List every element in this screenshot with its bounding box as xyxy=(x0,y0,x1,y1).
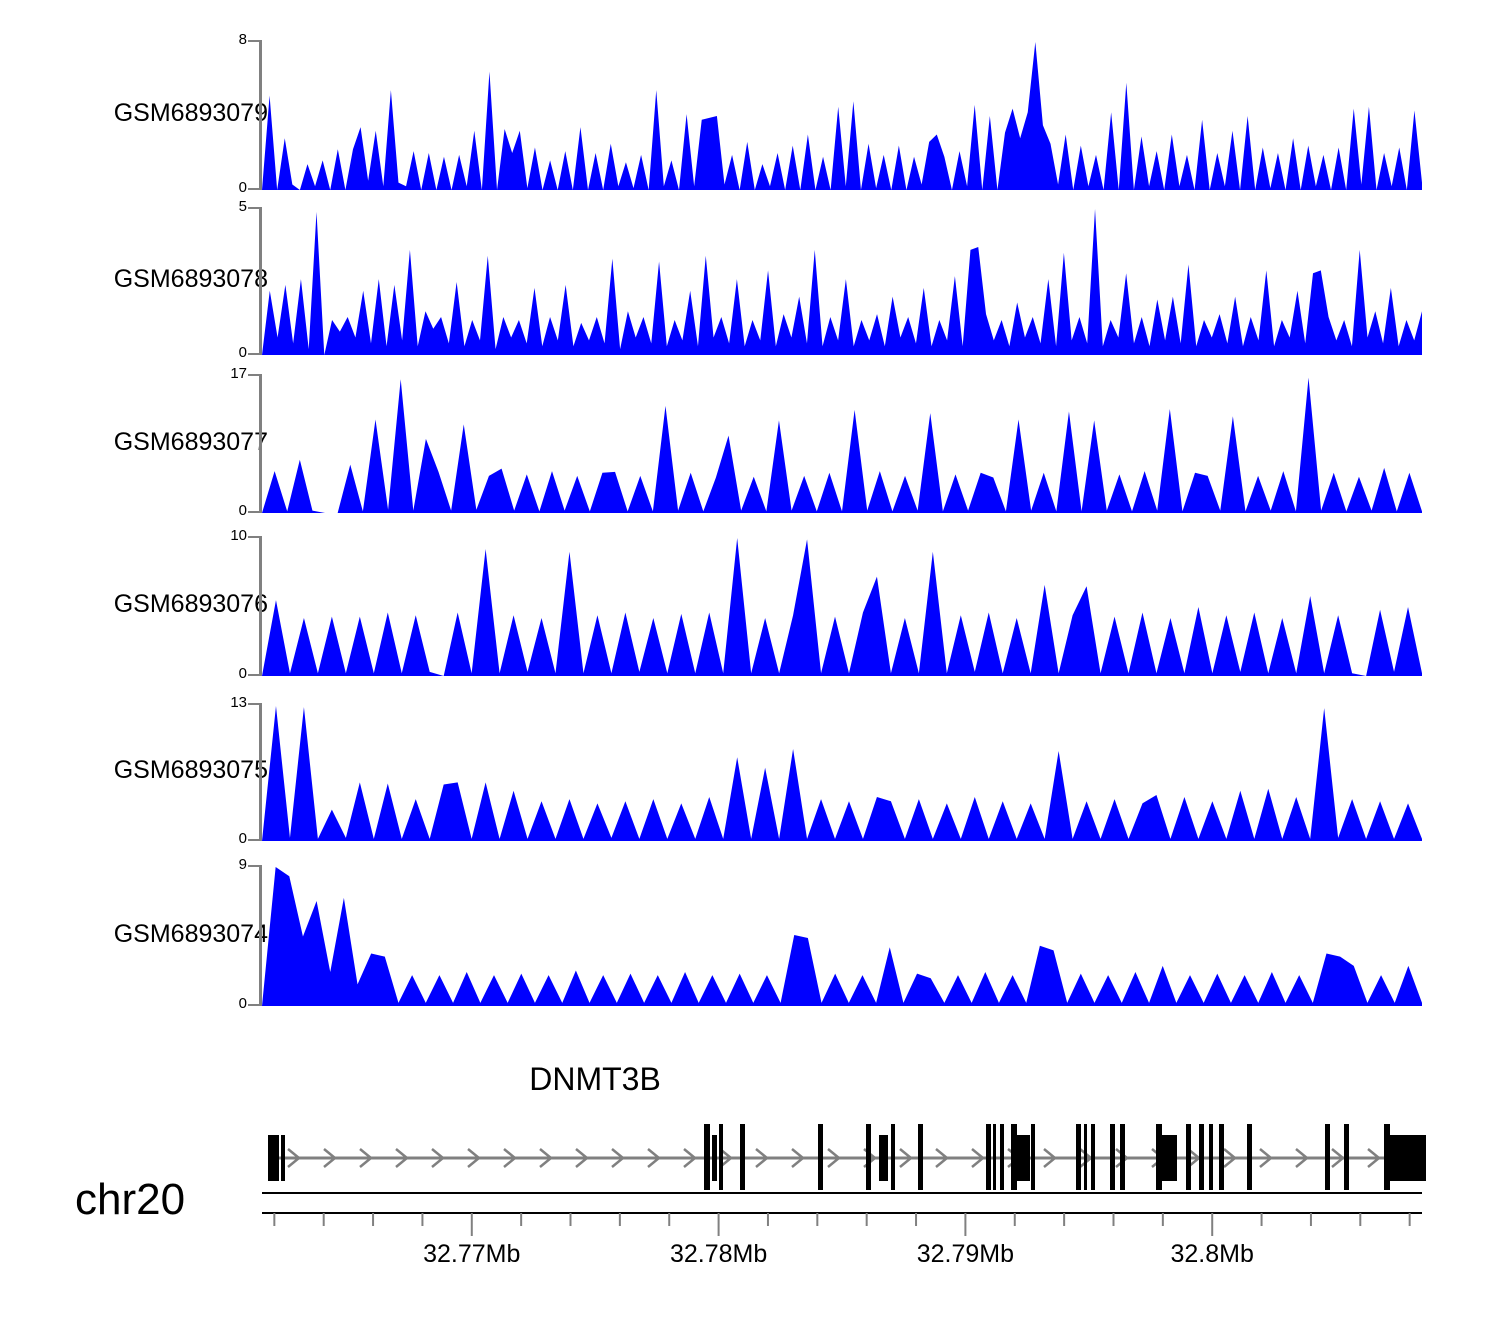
coverage-plot-area xyxy=(262,703,1422,841)
y-axis-max-label: 5 xyxy=(239,199,247,214)
y-axis-tick xyxy=(248,207,259,209)
coverage-plot-area xyxy=(262,40,1422,190)
y-axis-tick xyxy=(248,703,259,705)
gene-model-graphic xyxy=(0,1100,1500,1190)
track-label-GSM6893078: GSM6893078 xyxy=(114,265,268,294)
y-axis-max-label: 9 xyxy=(239,857,247,872)
y-axis-max-label: 10 xyxy=(230,528,247,543)
y-axis-tick xyxy=(248,353,259,355)
y-axis-tick xyxy=(248,674,259,676)
y-axis-tick xyxy=(248,839,259,841)
y-axis-tick xyxy=(248,865,259,867)
gene-name-text: DNMT3B xyxy=(529,1061,661,1097)
track-label-GSM6893077: GSM6893077 xyxy=(114,428,268,457)
track-label-GSM6893074: GSM6893074 xyxy=(114,920,268,949)
y-axis-tick xyxy=(248,40,259,42)
axis-tick-label: 32.78Mb xyxy=(619,1240,819,1269)
y-axis-max-label: 8 xyxy=(239,32,247,47)
y-axis-tick xyxy=(248,374,259,376)
coverage-plot-area xyxy=(262,536,1422,676)
y-axis-tick xyxy=(248,536,259,538)
gene-name-label: DNMT3B xyxy=(0,1061,1500,1098)
genome-browser-figure: GSM689307980GSM689307850GSM6893077170GSM… xyxy=(0,0,1500,1320)
y-axis-tick xyxy=(248,1004,259,1006)
axis-separator-line xyxy=(262,1192,1422,1194)
y-axis-zero-label: 0 xyxy=(239,345,247,360)
y-axis-tick xyxy=(248,188,259,190)
coverage-plot-area xyxy=(262,207,1422,355)
gene-model-track: DNMT3B xyxy=(0,1060,1500,1190)
coverage-plot-area xyxy=(262,865,1422,1006)
track-label-GSM6893076: GSM6893076 xyxy=(114,590,268,619)
axis-tick-label: 32.79Mb xyxy=(865,1240,1065,1269)
y-axis-max-label: 13 xyxy=(230,695,247,710)
y-axis-max-label: 17 xyxy=(230,366,247,381)
axis-tick-label: 32.77Mb xyxy=(372,1240,572,1269)
track-label-GSM6893075: GSM6893075 xyxy=(114,756,268,785)
track-label-GSM6893079: GSM6893079 xyxy=(114,99,268,128)
y-axis-tick xyxy=(248,511,259,513)
y-axis-zero-label: 0 xyxy=(239,666,247,681)
y-axis-zero-label: 0 xyxy=(239,996,247,1011)
axis-tick-label: 32.8Mb xyxy=(1112,1240,1312,1269)
y-axis-zero-label: 0 xyxy=(239,180,247,195)
y-axis-zero-label: 0 xyxy=(239,503,247,518)
coverage-plot-area xyxy=(262,374,1422,513)
y-axis-zero-label: 0 xyxy=(239,831,247,846)
